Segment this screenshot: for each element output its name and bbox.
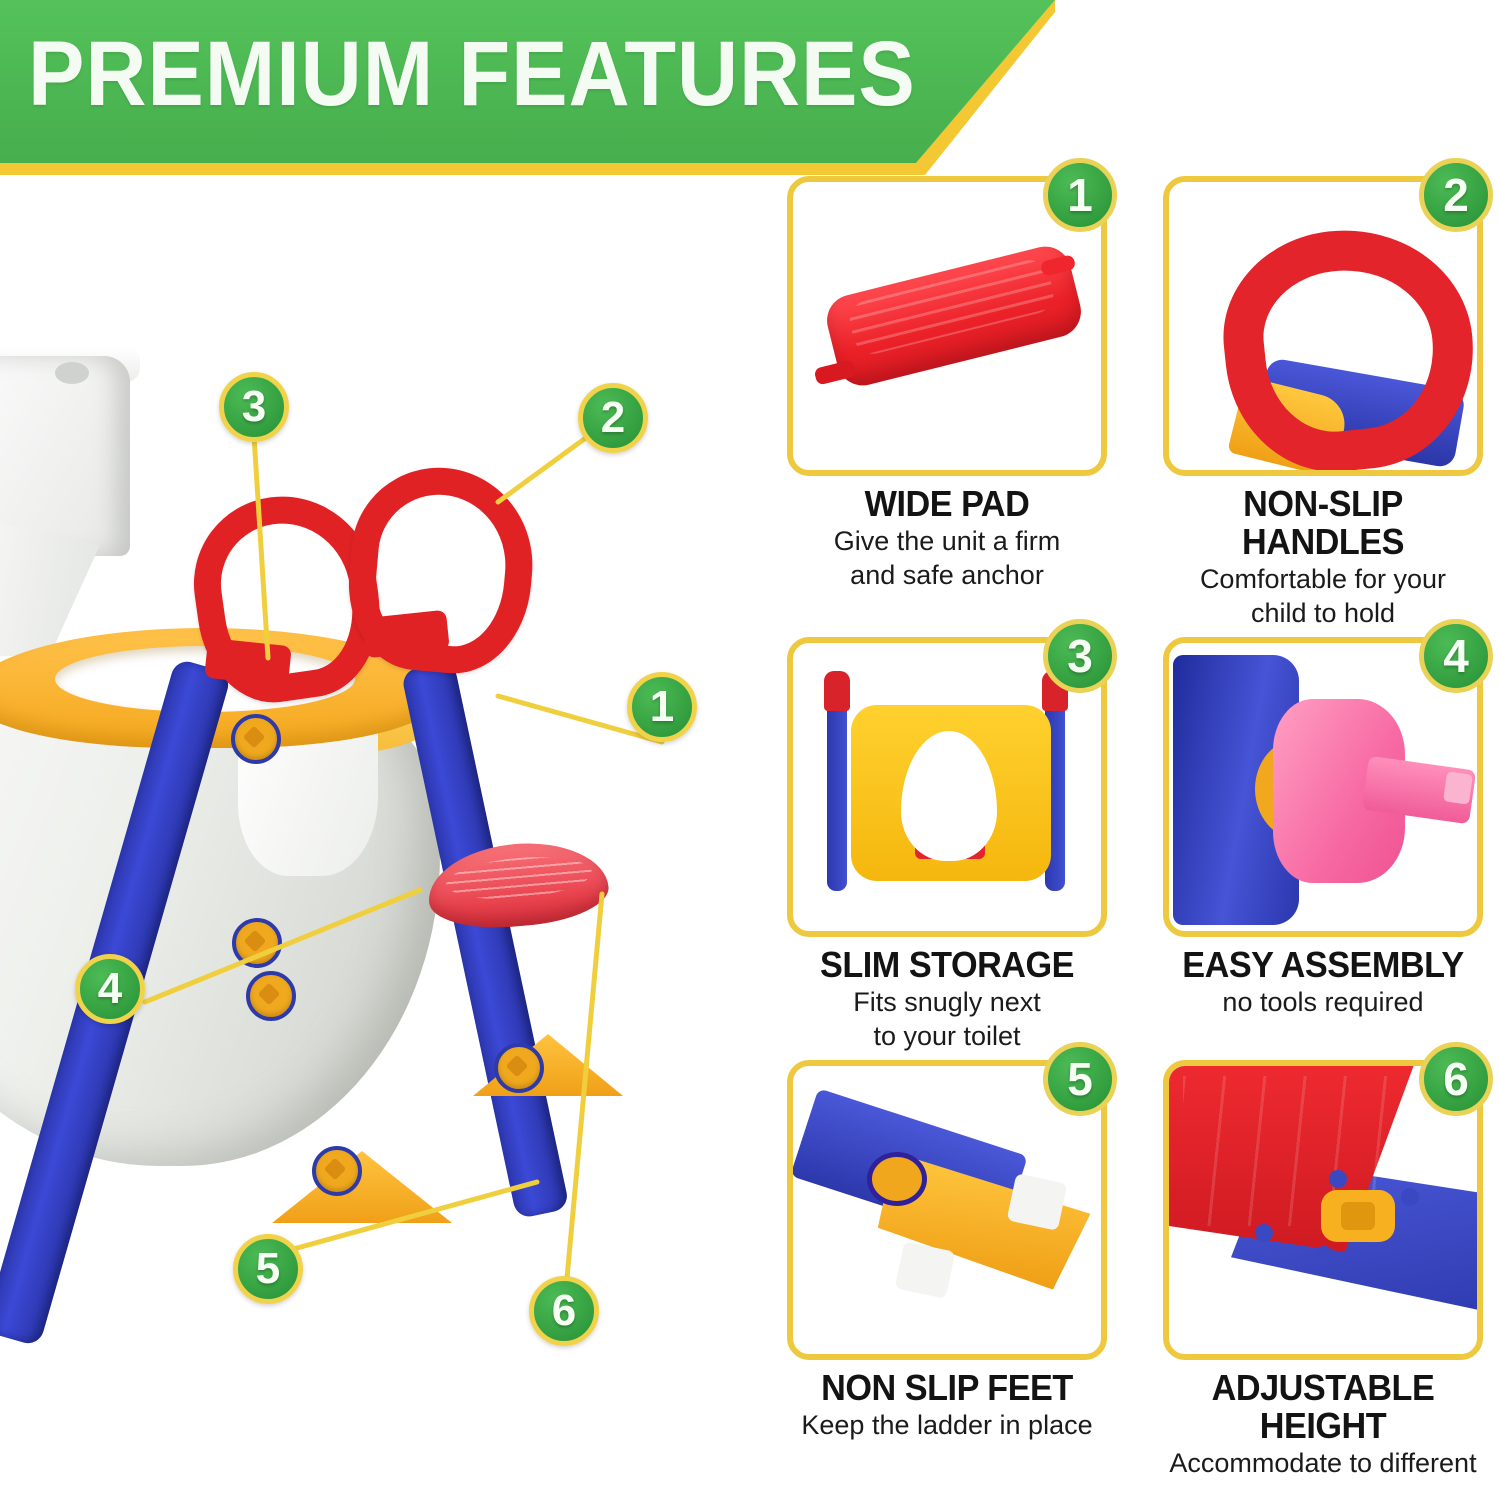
hero-callout-6[interactable]: 6 bbox=[529, 1276, 599, 1346]
hero-callout-2[interactable]: 2 bbox=[578, 383, 648, 453]
feature-number-badge-1: 1 bbox=[1043, 158, 1117, 232]
feature-title: ADJUSTABLE HEIGHT bbox=[1162, 1369, 1485, 1445]
feature-card-adjustable-height[interactable]: 6 ADJUSTABLE HEIGHT Accommodate to diffe… bbox=[1146, 1060, 1500, 1485]
thumbscrew-photo bbox=[1169, 643, 1477, 931]
handle-photo bbox=[1169, 182, 1477, 470]
hero-callout-4[interactable]: 4 bbox=[75, 954, 145, 1024]
infographic-page: PREMIUM FEATURES bbox=[0, 0, 1500, 1485]
feature-image-frame: 2 bbox=[1163, 176, 1483, 476]
feature-title: WIDE PAD bbox=[786, 485, 1109, 523]
feature-image-frame: 3 bbox=[787, 637, 1107, 937]
header-banner: PREMIUM FEATURES bbox=[0, 0, 1055, 176]
callout-leader-lines bbox=[0, 176, 760, 1485]
feature-card-non-slip-handles[interactable]: 2 NON-SLIP HANDLES Comfortable for your … bbox=[1146, 176, 1500, 629]
feature-subtitle-line-1: Comfortable for your bbox=[1153, 564, 1493, 595]
feature-subtitle-line-1: no tools required bbox=[1153, 987, 1493, 1018]
feature-card-easy-assembly[interactable]: 4 EASY ASSEMBLY no tools required bbox=[1146, 637, 1500, 1052]
hero-callout-5[interactable]: 5 bbox=[233, 1234, 303, 1304]
folded-seat-photo bbox=[793, 643, 1101, 931]
feature-number-badge-5: 5 bbox=[1043, 1042, 1117, 1116]
feature-caption: EASY ASSEMBLY no tools required bbox=[1153, 946, 1493, 1018]
hero-callout-3[interactable]: 3 bbox=[219, 372, 289, 442]
feature-subtitle-line-1: Fits snugly next bbox=[777, 987, 1117, 1018]
feature-card-wide-pad[interactable]: 1 WIDE PAD Give the unit a firm and safe… bbox=[770, 176, 1124, 629]
feature-number-badge-4: 4 bbox=[1419, 619, 1493, 693]
feature-image-frame: 1 bbox=[787, 176, 1107, 476]
feature-image-frame: 5 bbox=[787, 1060, 1107, 1360]
non-slip-foot-photo bbox=[793, 1066, 1101, 1354]
feature-subtitle-line-2: and safe anchor bbox=[777, 560, 1117, 591]
feature-caption: SLIM STORAGE Fits snugly next to your to… bbox=[777, 946, 1117, 1052]
feature-image-frame: 4 bbox=[1163, 637, 1483, 937]
page-title: PREMIUM FEATURES bbox=[28, 26, 916, 122]
feature-caption: ADJUSTABLE HEIGHT Accommodate to differe… bbox=[1153, 1369, 1493, 1485]
adjustable-base-photo bbox=[1169, 1066, 1477, 1354]
feature-title: NON-SLIP HANDLES bbox=[1162, 485, 1485, 561]
feature-caption: NON-SLIP HANDLES Comfortable for your ch… bbox=[1153, 485, 1493, 629]
feature-subtitle-line-1: Give the unit a firm bbox=[777, 526, 1117, 557]
feature-subtitle-line-1: Accommodate to different bbox=[1153, 1448, 1493, 1479]
feature-title: SLIM STORAGE bbox=[786, 946, 1109, 984]
feature-number-badge-2: 2 bbox=[1419, 158, 1493, 232]
feature-number-badge-6: 6 bbox=[1419, 1042, 1493, 1116]
feature-grid: 1 WIDE PAD Give the unit a firm and safe… bbox=[770, 176, 1500, 1485]
feature-title: EASY ASSEMBLY bbox=[1162, 946, 1485, 984]
feature-title: NON SLIP FEET bbox=[786, 1369, 1109, 1407]
feature-number-badge-3: 3 bbox=[1043, 619, 1117, 693]
wide-pad-photo bbox=[793, 182, 1101, 470]
feature-caption: WIDE PAD Give the unit a firm and safe a… bbox=[777, 485, 1117, 591]
feature-card-slim-storage[interactable]: 3 SLIM STORAGE Fits snugly next to your … bbox=[770, 637, 1124, 1052]
feature-subtitle-line-1: Keep the ladder in place bbox=[777, 1410, 1117, 1441]
feature-caption: NON SLIP FEET Keep the ladder in place bbox=[777, 1369, 1117, 1441]
hero-callout-1[interactable]: 1 bbox=[627, 672, 697, 742]
feature-image-frame: 6 bbox=[1163, 1060, 1483, 1360]
hero-product-image: 1 2 3 4 5 6 bbox=[0, 176, 760, 1485]
feature-card-non-slip-feet[interactable]: 5 NON SLIP FEET Keep the ladder in place bbox=[770, 1060, 1124, 1485]
